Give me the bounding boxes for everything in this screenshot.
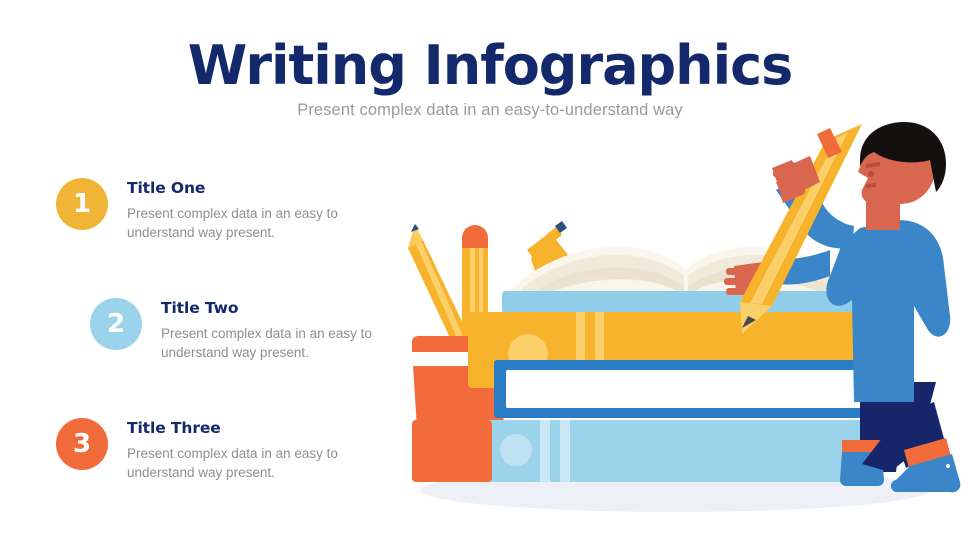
badge-number-3: 3: [56, 418, 108, 470]
page-title: Writing Infographics: [0, 38, 980, 95]
illustration-books-and-writer: [390, 120, 970, 520]
list-item-three-description: Present complex data in an easy to under…: [127, 444, 377, 482]
open-book-cover: [502, 291, 874, 314]
person-eye: [868, 171, 874, 177]
list-item-two-title: Title Two: [161, 300, 411, 317]
blue-framed-book: [494, 360, 874, 418]
page-subtitle: Present complex data in an easy-to-under…: [0, 101, 980, 120]
list-item-two-description: Present complex data in an easy to under…: [161, 324, 411, 362]
header: Writing Infographics Present complex dat…: [0, 38, 980, 120]
infographic-slide: Writing Infographics Present complex dat…: [0, 0, 980, 551]
list-item-three-title: Title Three: [127, 420, 377, 437]
list-item-one-description: Present complex data in an easy to under…: [127, 204, 377, 242]
list-item-two-text: Title Two Present complex data in an eas…: [161, 298, 411, 362]
light-blue-book-emblem: [500, 434, 532, 466]
list-item-three-text: Title Three Present complex data in an e…: [127, 418, 377, 482]
badge-number-1: 1: [56, 178, 108, 230]
list-item-one-text: Title One Present complex data in an eas…: [127, 178, 377, 242]
orange-book-edge: [412, 420, 492, 482]
list-item-one-title: Title One: [127, 180, 377, 197]
list-item-two[interactable]: 2 Title Two Present complex data in an e…: [90, 298, 411, 362]
list-item-three[interactable]: 3 Title Three Present complex data in an…: [56, 418, 377, 482]
list-item-one[interactable]: 1 Title One Present complex data in an e…: [56, 178, 377, 242]
badge-number-2: 2: [90, 298, 142, 350]
light-blue-book: [482, 420, 874, 482]
